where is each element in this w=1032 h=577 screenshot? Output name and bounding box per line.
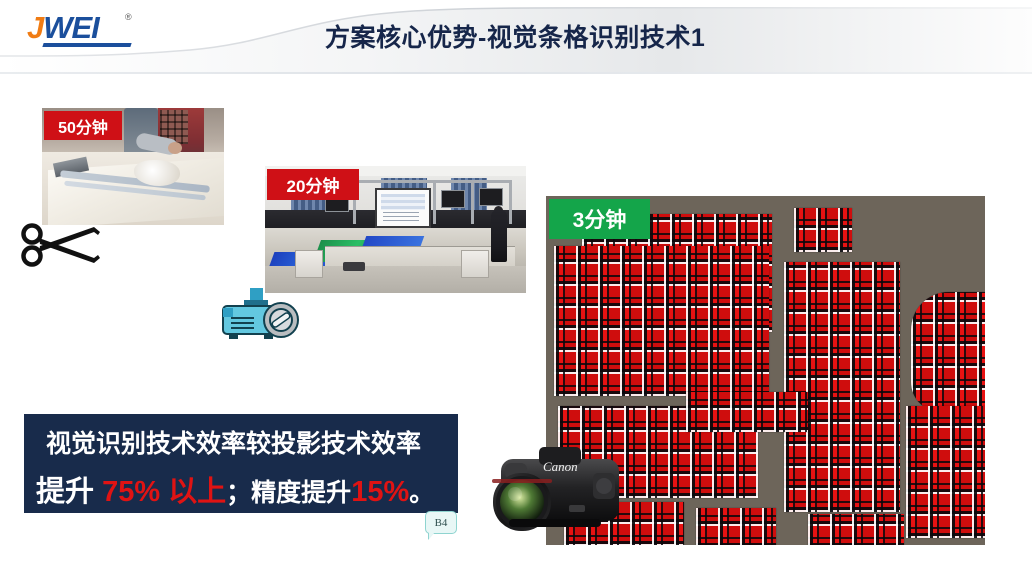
caption-highlight-accuracy: 15% [351, 476, 409, 508]
registered-trademark-icon: ® [125, 12, 132, 22]
monitor-screen-content [381, 194, 425, 210]
caption-prefix: 提升 [36, 476, 102, 508]
header-divider [0, 72, 1032, 74]
logo-letter-j: J [27, 10, 43, 45]
page-title: 方案核心优势-视觉条格识别技术1 [325, 18, 705, 54]
summary-caption-box: 视觉识别技术效率较投影技术效率 提升 75% 以上；精度提升15%。 [24, 414, 458, 513]
small-monitor [479, 188, 503, 206]
display-monitor [375, 188, 431, 228]
worker-figure [491, 210, 507, 262]
fabric-piece [696, 508, 776, 545]
slide: JWEI ® 方案核心优势-视觉条格识别技术1 50分钟 [0, 0, 1032, 577]
rail-post [433, 180, 436, 224]
control-panel [343, 262, 365, 271]
logo-letters-wei: WEI [43, 10, 99, 45]
badge-manual-time: 50分钟 [44, 111, 122, 140]
overhead-rail [351, 180, 511, 183]
comment-marker[interactable]: B4 [425, 511, 457, 534]
caption-suffix: 。 [409, 479, 434, 507]
caption-line-two: 提升 75% 以上；精度提升15%。 [36, 468, 434, 510]
caption-line-one: 视觉识别技术效率较投影技术效率 [46, 424, 421, 460]
fabric-piece [554, 246, 769, 396]
fabric-piece [784, 262, 900, 512]
logo-wordmark: JWEI [27, 10, 99, 46]
fabric-piece [794, 208, 852, 252]
projector-icon [220, 288, 306, 342]
company-logo: JWEI ® [27, 10, 139, 46]
fabric-piece [911, 292, 985, 412]
dslr-camera-icon: Canon [481, 437, 641, 549]
monitor-screen-lines [383, 212, 419, 222]
fabric-piece [686, 392, 808, 432]
rail-post [509, 180, 512, 224]
svg-text:Canon: Canon [543, 459, 578, 474]
logo-underline-bar [42, 43, 131, 47]
worker-hand [168, 142, 182, 154]
small-monitor [441, 190, 465, 208]
rail-post [471, 180, 474, 224]
fabric-piece [906, 406, 985, 538]
badge-vision-time: 3分钟 [549, 199, 650, 239]
machine-cabinet [461, 250, 489, 278]
slide-header: JWEI ® 方案核心优势-视觉条格识别技术1 [0, 0, 1032, 74]
machine-cabinet [295, 250, 323, 278]
scissors-icon [20, 222, 102, 270]
badge-projection-time: 20分钟 [267, 169, 359, 200]
fabric-piece [808, 514, 904, 545]
caption-middle: ；精度提升 [226, 479, 351, 507]
caption-highlight-efficiency: 75% 以上 [102, 476, 226, 508]
